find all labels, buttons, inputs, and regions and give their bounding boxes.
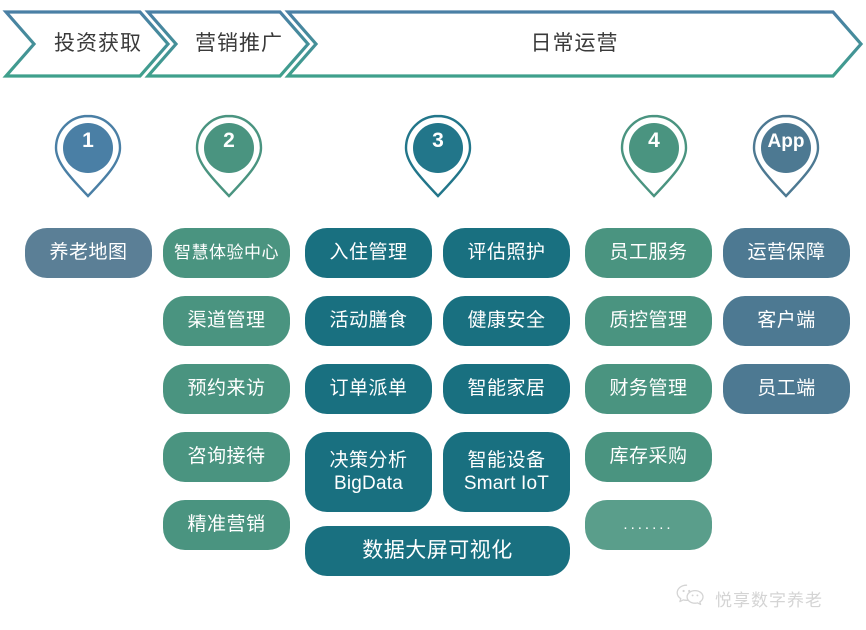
card-column-4-3[interactable]: 库存采购 xyxy=(585,432,712,482)
card-column-4-4[interactable]: ....... xyxy=(585,500,712,550)
pin-4-label: 4 xyxy=(617,129,691,153)
card-column-4-0[interactable]: 员工服务 xyxy=(585,228,712,278)
phase-band: 投资获取 营销推广 日常运营 xyxy=(0,0,866,92)
card-column-2-2[interactable]: 预约来访 xyxy=(163,364,290,414)
card-column-2-0[interactable]: 智慧体验中心 xyxy=(163,228,290,278)
pin-app: App xyxy=(749,112,823,200)
card-column-3b-0[interactable]: 评估照护 xyxy=(443,228,570,278)
card-column-4-2[interactable]: 财务管理 xyxy=(585,364,712,414)
pin-app-label: App xyxy=(749,131,823,153)
card-column-1-0[interactable]: 养老地图 xyxy=(25,228,152,278)
phase-label-1: 投资获取 xyxy=(36,22,160,66)
watermark-label: 悦享数字养老 xyxy=(715,586,823,611)
pin-4: 4 xyxy=(617,112,691,200)
card-column-3b-3-line1: 智能设备 xyxy=(449,449,564,472)
card-column-3b-3[interactable]: 智能设备 Smart IoT xyxy=(443,432,570,512)
card-column-3a-0[interactable]: 入住管理 xyxy=(305,228,432,278)
card-column-5-1[interactable]: 客户端 xyxy=(723,296,850,346)
pin-1: 1 xyxy=(51,112,125,200)
card-column-4-1[interactable]: 质控管理 xyxy=(585,296,712,346)
card-column-2-1[interactable]: 渠道管理 xyxy=(163,296,290,346)
card-data-visualization[interactable]: 数据大屏可视化 xyxy=(305,526,570,576)
card-column-2-3[interactable]: 咨询接待 xyxy=(163,432,290,482)
card-column-3a-3[interactable]: 决策分析 BigData xyxy=(305,432,432,512)
pin-3: 3 xyxy=(401,112,475,200)
pin-1-label: 1 xyxy=(51,129,125,153)
wechat-icon xyxy=(676,583,706,613)
pin-2-label: 2 xyxy=(192,129,266,153)
card-column-3b-1[interactable]: 健康安全 xyxy=(443,296,570,346)
phase-label-3: 日常运营 xyxy=(318,22,831,66)
card-column-3b-2[interactable]: 智能家居 xyxy=(443,364,570,414)
card-column-3a-3-line1: 决策分析 xyxy=(311,449,426,472)
card-column-2-4[interactable]: 精准营销 xyxy=(163,500,290,550)
card-column-3a-3-line2: BigData xyxy=(311,472,426,495)
pin-3-label: 3 xyxy=(401,129,475,153)
card-column-3a-1[interactable]: 活动膳食 xyxy=(305,296,432,346)
card-column-3b-3-line2: Smart IoT xyxy=(449,472,564,495)
pin-2: 2 xyxy=(192,112,266,200)
watermark: 悦享数字养老 xyxy=(676,583,823,613)
phase-label-2: 营销推广 xyxy=(178,22,300,66)
card-column-5-2[interactable]: 员工端 xyxy=(723,364,850,414)
card-column-5-0[interactable]: 运营保障 xyxy=(723,228,850,278)
card-column-3a-2[interactable]: 订单派单 xyxy=(305,364,432,414)
